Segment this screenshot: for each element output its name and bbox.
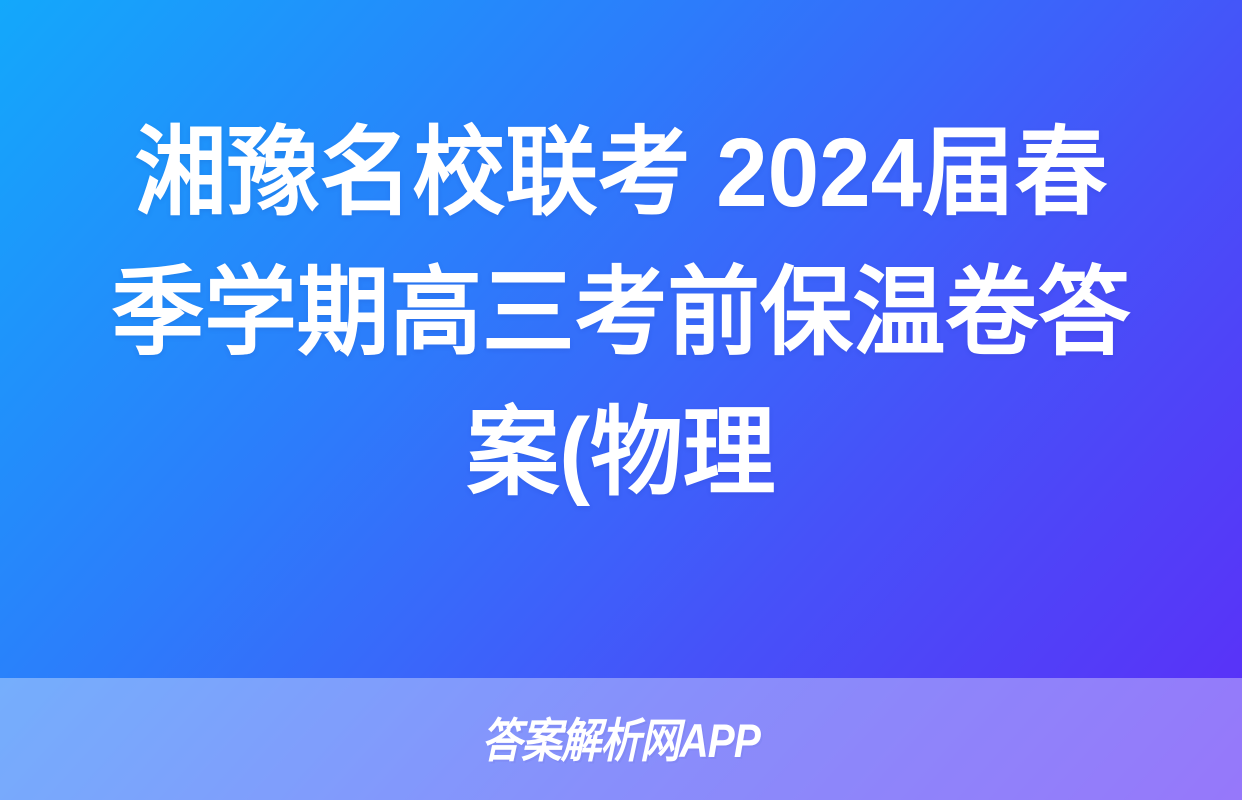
poster-canvas: 湘豫名校联考 2024届春季学期高三考前保温卷答案(物理 答案解析网APP	[0, 0, 1242, 800]
page-title: 湘豫名校联考 2024届春季学期高三考前保温卷答案(物理	[95, 103, 1147, 523]
brand-watermark-label: 答案解析网APP	[482, 717, 760, 764]
watermark-band: 答案解析网APP	[0, 678, 1242, 800]
headline-block: 湘豫名校联考 2024届春季学期高三考前保温卷答案(物理	[0, 0, 1242, 678]
